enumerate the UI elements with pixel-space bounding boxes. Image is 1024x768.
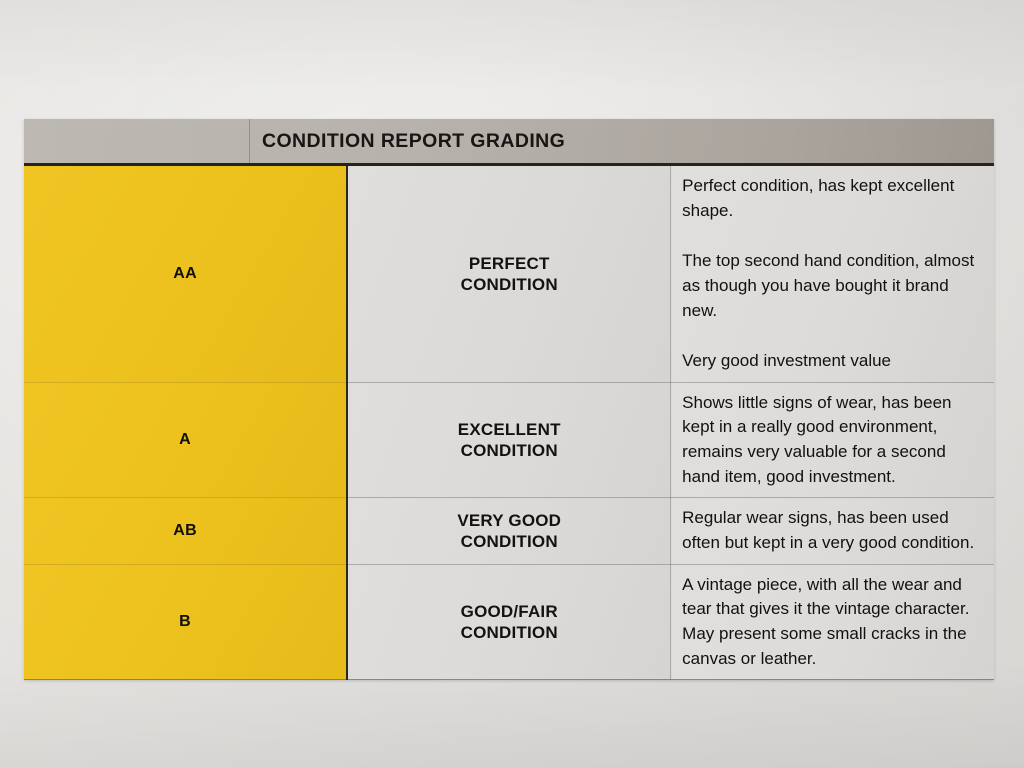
grade-label-b: GOOD/FAIR CONDITION (347, 564, 670, 680)
grade-label-line1: GOOD/FAIR (461, 602, 558, 621)
condition-report-table-container: CONDITION REPORT GRADING AA PERFECT COND… (24, 119, 994, 680)
grade-label-ab: VERY GOOD CONDITION (347, 498, 670, 564)
grade-description-aa: Perfect condition, has kept excellent sh… (671, 165, 994, 383)
header-left-spacer (24, 119, 250, 163)
table-row: B GOOD/FAIR CONDITION A vintage piece, w… (24, 564, 994, 680)
description-paragraph: Very good investment value (682, 349, 984, 374)
description-paragraph: Perfect condition, has kept excellent sh… (682, 174, 984, 223)
page-title: CONDITION REPORT GRADING (250, 130, 565, 153)
table-header-row: CONDITION REPORT GRADING (24, 119, 994, 165)
table-row: AA PERFECT CONDITION Perfect condition, … (24, 165, 994, 383)
table-body: AA PERFECT CONDITION Perfect condition, … (24, 165, 994, 680)
grade-label-line1: VERY GOOD (457, 511, 561, 530)
grade-label-line2: CONDITION (461, 275, 558, 294)
table-row: AB VERY GOOD CONDITION Regular wear sign… (24, 498, 994, 564)
grade-description-b: A vintage piece, with all the wear and t… (671, 564, 994, 680)
description-paragraph: A vintage piece, with all the wear and t… (682, 573, 984, 672)
grade-label-aa: PERFECT CONDITION (347, 165, 670, 383)
condition-report-grading-table: CONDITION REPORT GRADING AA PERFECT COND… (24, 119, 994, 680)
grade-code-b: B (24, 564, 347, 680)
grade-code-aa: AA (24, 165, 347, 383)
grade-code-ab: AB (24, 498, 347, 564)
table-row: A EXCELLENT CONDITION Shows little signs… (24, 382, 994, 498)
grade-label-line1: PERFECT (469, 254, 550, 273)
table-header: CONDITION REPORT GRADING (24, 119, 994, 165)
description-paragraph: Shows little signs of wear, has been kep… (682, 391, 984, 490)
description-paragraph: The top second hand condition, almost as… (682, 249, 984, 323)
grade-label-line2: CONDITION (461, 441, 558, 460)
grade-label-a: EXCELLENT CONDITION (347, 382, 670, 498)
grade-label-line2: CONDITION (461, 532, 558, 551)
grade-description-a: Shows little signs of wear, has been kep… (671, 382, 994, 498)
grade-label-line1: EXCELLENT (458, 420, 561, 439)
grade-code-a: A (24, 382, 347, 498)
table-title-cell: CONDITION REPORT GRADING (24, 119, 994, 165)
description-paragraph: Regular wear signs, has been used often … (682, 506, 984, 555)
grade-description-ab: Regular wear signs, has been used often … (671, 498, 994, 564)
grade-label-line2: CONDITION (461, 623, 558, 642)
